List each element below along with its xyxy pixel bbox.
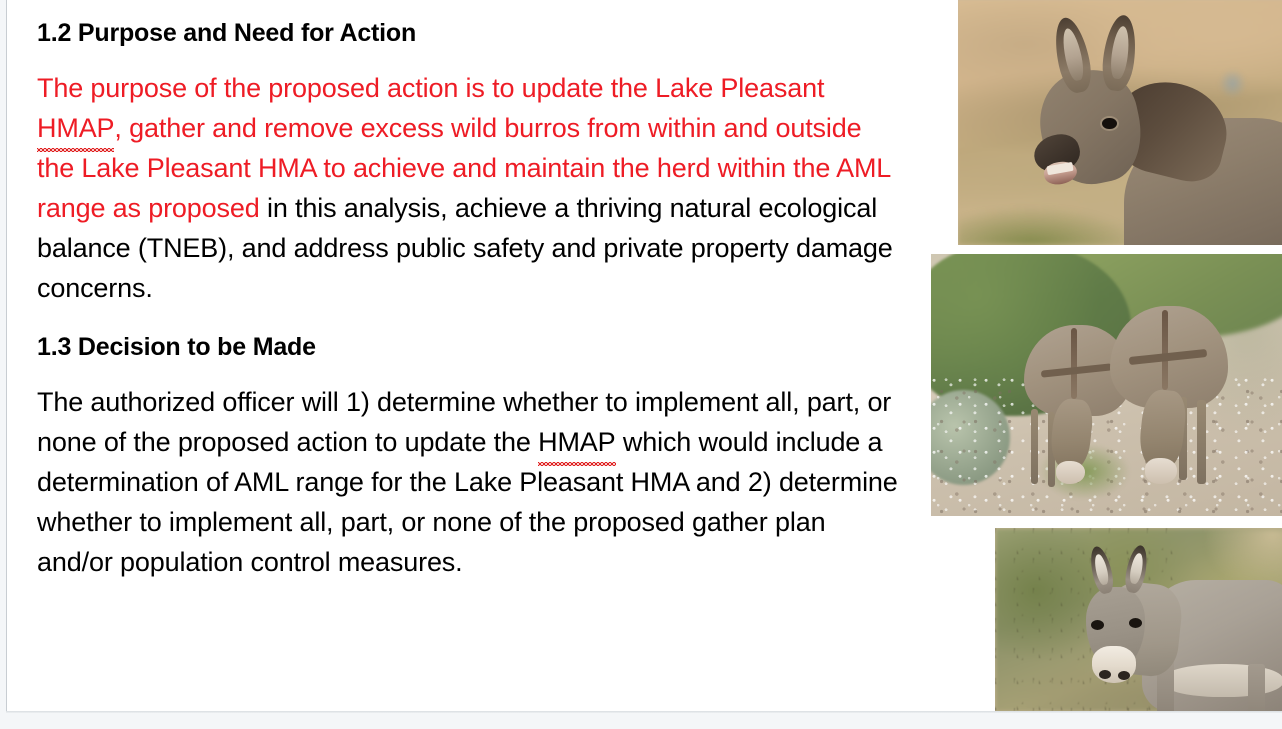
- heading-purpose-and-need: 1.2 Purpose and Need for Action: [37, 16, 899, 50]
- photo3-burro-leg-rear: [1248, 664, 1266, 712]
- photo2-burro-right: [1110, 306, 1228, 487]
- photo1-blue-rock: [1219, 69, 1245, 98]
- standing-burro-photo: [995, 528, 1282, 712]
- heading-decision-to-be-made: 1.3 Decision to be Made: [37, 330, 899, 364]
- text-column: 1.2 Purpose and Need for Action The purp…: [37, 8, 899, 582]
- young-burro-braying-photo: [958, 0, 1282, 245]
- photo3-burro-nostril-right: [1118, 671, 1130, 680]
- photo1-burro-eye: [1102, 118, 1117, 129]
- spellcheck-word-hmap-2[interactable]: HMAP: [538, 422, 615, 462]
- two-burros-grazing-photo: [931, 254, 1282, 516]
- photo1-grass: [958, 206, 1140, 245]
- paragraph-decision-to-be-made: The authorized officer will 1) determine…: [37, 382, 899, 582]
- page-bottom-edge: [6, 711, 1282, 713]
- photo3-burro-nostril-left: [1099, 670, 1111, 679]
- paragraph-purpose-and-need: The purpose of the proposed action is to…: [37, 68, 899, 308]
- document-viewer: 1.2 Purpose and Need for Action The purp…: [0, 0, 1282, 729]
- document-page: 1.2 Purpose and Need for Action The purp…: [6, 0, 1282, 712]
- spellcheck-word-hmap[interactable]: HMAP: [37, 108, 114, 148]
- red-text-run-1: The purpose of the proposed action is to…: [37, 73, 824, 103]
